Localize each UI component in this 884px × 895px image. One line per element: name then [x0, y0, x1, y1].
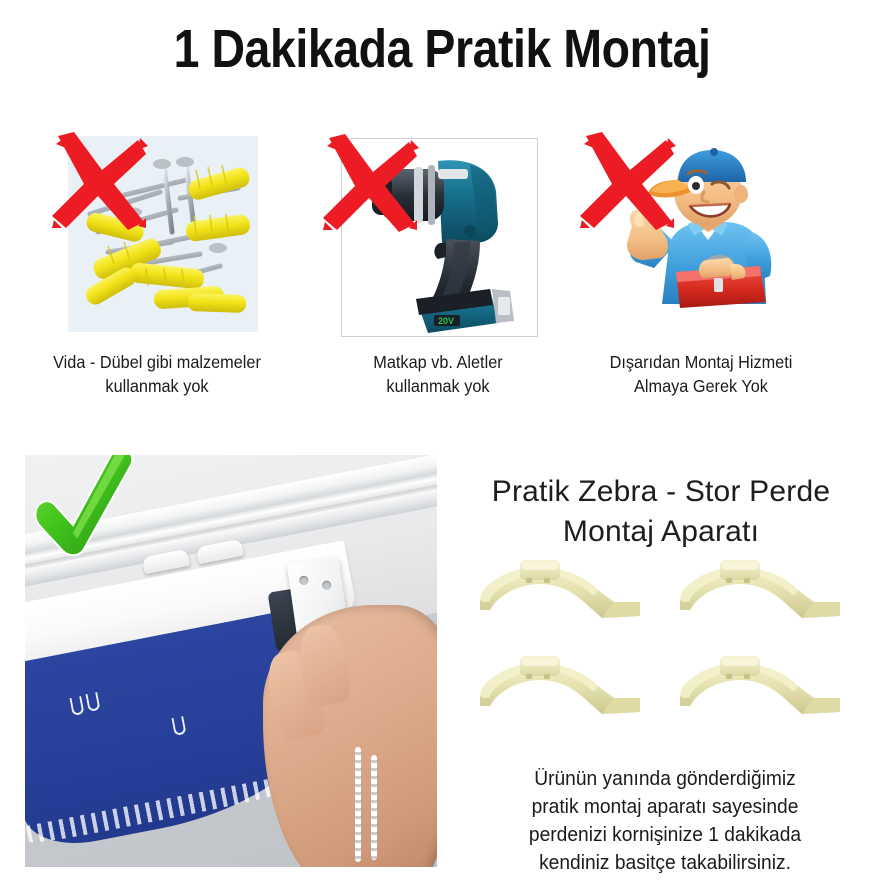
avoid-item-caption: Vida - Dübel gibi malzemeler kullanmak y… — [31, 350, 282, 398]
photo-bead-chain — [355, 747, 361, 862]
photo-bead-chain — [371, 755, 377, 860]
mounting-clip — [674, 654, 846, 726]
handyman-illustration — [602, 136, 802, 336]
description-line-1: Ürünün yanında gönderdiğimiz — [534, 768, 796, 790]
avoid-item-caption: Matkap vb. Aletler kullanmak yok — [312, 350, 563, 398]
mounting-clip — [474, 558, 646, 630]
green-check-icon — [25, 455, 149, 576]
cordless-drill-photo: 20V — [341, 138, 538, 337]
mounting-clip-grid — [466, 558, 872, 758]
avoid-section: Vida - Dübel gibi malzemeler kullanmak y… — [0, 128, 884, 428]
caption-line-2: kullanmak yok — [386, 376, 489, 396]
avoid-item-power-drill: 20V Matkap vb. — [303, 128, 573, 428]
caption-line-1: Matkap vb. Aletler — [373, 352, 502, 372]
caption-line-2: Almaya Gerek Yok — [634, 376, 768, 396]
avoid-item-installer-service: Dışarıdan Montaj Hizmeti Almaya Gerek Yo… — [566, 128, 836, 428]
caption-line-1: Vida - Dübel gibi malzemeler — [53, 352, 261, 372]
page-title: 1 Dakikada Pratik Montaj — [62, 18, 822, 80]
screws-and-dowels-photo — [68, 136, 258, 332]
mounting-clip — [474, 654, 646, 726]
caption-line-1: Dışarıdan Montaj Hizmeti — [610, 352, 793, 372]
bracket-hole — [299, 575, 309, 585]
infographic-page: 1 Dakikada Pratik Montaj — [0, 0, 884, 895]
screws-dowels-illustration — [68, 136, 258, 332]
handyman-cartoon — [602, 136, 802, 336]
product-title: Pratik Zebra - Stor Perde Montaj Aparatı — [444, 472, 878, 552]
mounting-clip — [674, 558, 846, 630]
blind-installation-photo — [25, 455, 437, 867]
drill-illustration: 20V — [342, 139, 535, 334]
description-line-4: kendiniz basitçe takabilirsiniz. — [539, 852, 791, 874]
product-description: Ürünün yanında gönderdiğimiz pratik mont… — [463, 765, 866, 877]
product-title-line-1: Pratik Zebra - Stor Perde — [492, 475, 830, 508]
svg-text:20V: 20V — [438, 316, 454, 326]
product-title-line-2: Montaj Aparatı — [563, 515, 759, 548]
caption-line-2: kullanmak yok — [105, 376, 208, 396]
description-line-2: pratik montaj aparatı sayesinde — [532, 796, 799, 818]
bracket-hole — [322, 580, 332, 590]
avoid-item-screws-dowels: Vida - Dübel gibi malzemeler kullanmak y… — [22, 128, 292, 428]
avoid-item-caption: Dışarıdan Montaj Hizmeti Almaya Gerek Yo… — [575, 350, 826, 398]
description-line-3: perdenizi kornişinize 1 dakikada — [529, 824, 801, 846]
